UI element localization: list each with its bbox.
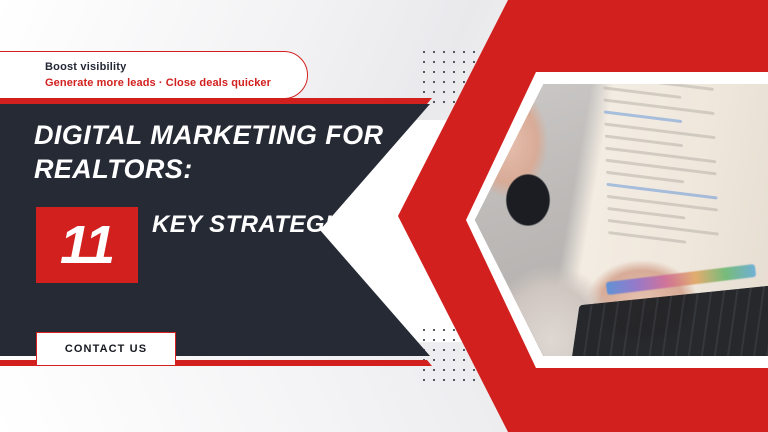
eyebrow-pill: Boost visibility Generate more leads · C…	[0, 51, 308, 99]
page-title: DIGITAL MARKETING FOR REALTORS:	[34, 118, 414, 186]
eyebrow-line-1: Boost visibility	[45, 59, 271, 75]
number-badge: 11	[36, 207, 138, 283]
subheadline: KEY STRATEGIES	[152, 208, 365, 241]
hero-photo	[456, 50, 768, 390]
contact-us-button-label: CONTACT US	[65, 343, 147, 355]
marketing-banner: Boost visibility Generate more leads · C…	[0, 0, 768, 432]
contact-us-button[interactable]: CONTACT US	[36, 332, 176, 366]
eyebrow-text-group: Boost visibility Generate more leads · C…	[45, 59, 271, 91]
eyebrow-line-2: Generate more leads · Close deals quicke…	[45, 75, 271, 91]
number-badge-value: 11	[60, 218, 114, 272]
screen-document-lines	[603, 74, 760, 283]
